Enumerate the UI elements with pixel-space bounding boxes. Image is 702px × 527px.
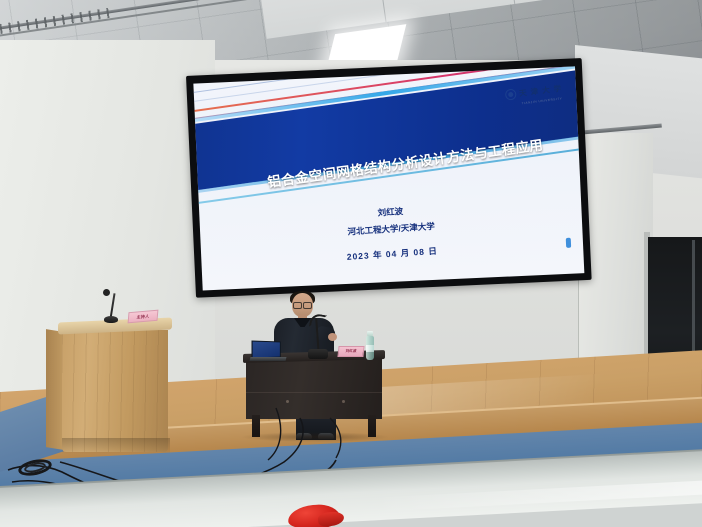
desk-panel-seam (246, 392, 382, 393)
water-bottle-cap (367, 331, 373, 336)
podium-name-card-text: 主持人 (136, 313, 149, 320)
projector-display[interactable]: 天 津 大 学 TIANJIN UNIVERSITY 铝合金空间网格结构分析设计… (186, 58, 592, 298)
water-bottle-label (366, 345, 374, 352)
desk-name-card-text: 刘红波 (345, 349, 356, 354)
speaker-hand (328, 333, 337, 341)
lecture-hall-photo: 天 津 大 学 TIANJIN UNIVERSITY 铝合金空间网格结构分析设计… (0, 0, 702, 527)
slide-corner-indicator-icon (566, 238, 571, 248)
laptop-screen[interactable] (252, 340, 281, 358)
desk-name-card: 刘红波 (337, 346, 364, 357)
desk-microphone-base (308, 349, 328, 359)
university-seal-icon (504, 88, 516, 100)
podium-microphone-base (104, 316, 118, 323)
laptop-base (250, 357, 287, 361)
glasses-icon (293, 302, 312, 307)
presentation-slide: 天 津 大 学 TIANJIN UNIVERSITY 铝合金空间网格结构分析设计… (193, 66, 584, 290)
podium-microphone-icon (103, 289, 110, 296)
